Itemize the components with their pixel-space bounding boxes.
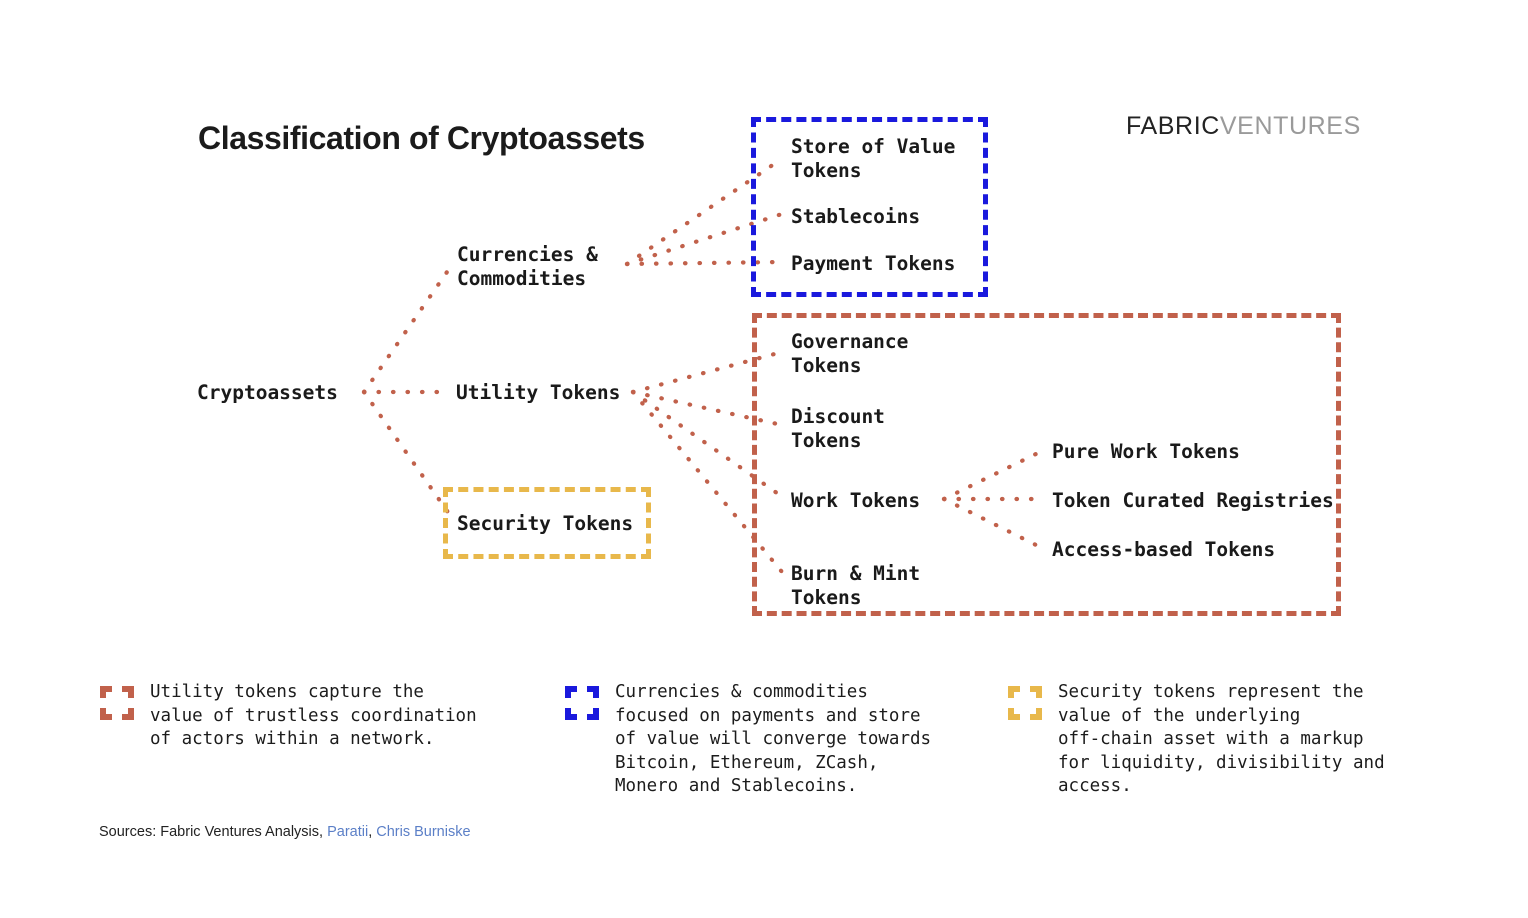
node-payment-tokens: Payment Tokens [791,252,955,276]
node-burn-mint-tokens: Burn & Mint Tokens [791,562,920,609]
source-link-chris-burniske[interactable]: Chris Burniske [376,824,470,840]
legend-item-currencies: Currencies & commodities focused on paym… [565,681,965,799]
node-utility-tokens: Utility Tokens [456,381,620,405]
node-security-tokens: Security Tokens [457,512,633,536]
fabric-ventures-logo: FABRICVENTURES [1126,112,1361,141]
legend-text-security: Security tokens represent the value of t… [1058,681,1385,799]
sources-prefix: Sources: Fabric Ventures Analysis, [99,824,327,840]
node-store-of-value-tokens: Store of Value Tokens [791,135,955,182]
logo-primary-text: FABRIC [1126,112,1220,140]
legend-marker-currencies-icon [565,686,599,720]
source-link-paratii[interactable]: Paratii [327,824,368,840]
node-pure-work-tokens: Pure Work Tokens [1052,440,1240,464]
link-root-to-security [364,392,452,518]
legend-text-utility: Utility tokens capture the value of trus… [150,681,477,752]
sources-line: Sources: Fabric Ventures Analysis, Parat… [99,824,471,840]
legend-item-security: Security tokens represent the value of t… [1008,681,1438,799]
node-stablecoins: Stablecoins [791,205,920,229]
node-currencies-commodities: Currencies & Commodities [457,243,598,290]
logo-secondary-text: VENTURES [1220,112,1361,140]
link-root-to-currencies [364,272,447,392]
page-title: Classification of Cryptoassets [198,120,645,157]
diagram-canvas: Classification of Cryptoassets FABRICVEN… [0,0,1528,918]
legend-marker-utility-icon [100,686,134,720]
legend-marker-security-icon [1008,686,1042,720]
node-access-based-tokens: Access-based Tokens [1052,538,1275,562]
node-work-tokens: Work Tokens [791,489,920,513]
node-governance-tokens: Governance Tokens [791,330,908,377]
node-discount-tokens: Discount Tokens [791,405,885,452]
node-cryptoassets: Cryptoassets [197,381,338,405]
node-token-curated-registries: Token Curated Registries [1052,489,1334,513]
legend-text-currencies: Currencies & commodities focused on paym… [615,681,931,799]
legend-item-utility: Utility tokens capture the value of trus… [100,681,530,752]
